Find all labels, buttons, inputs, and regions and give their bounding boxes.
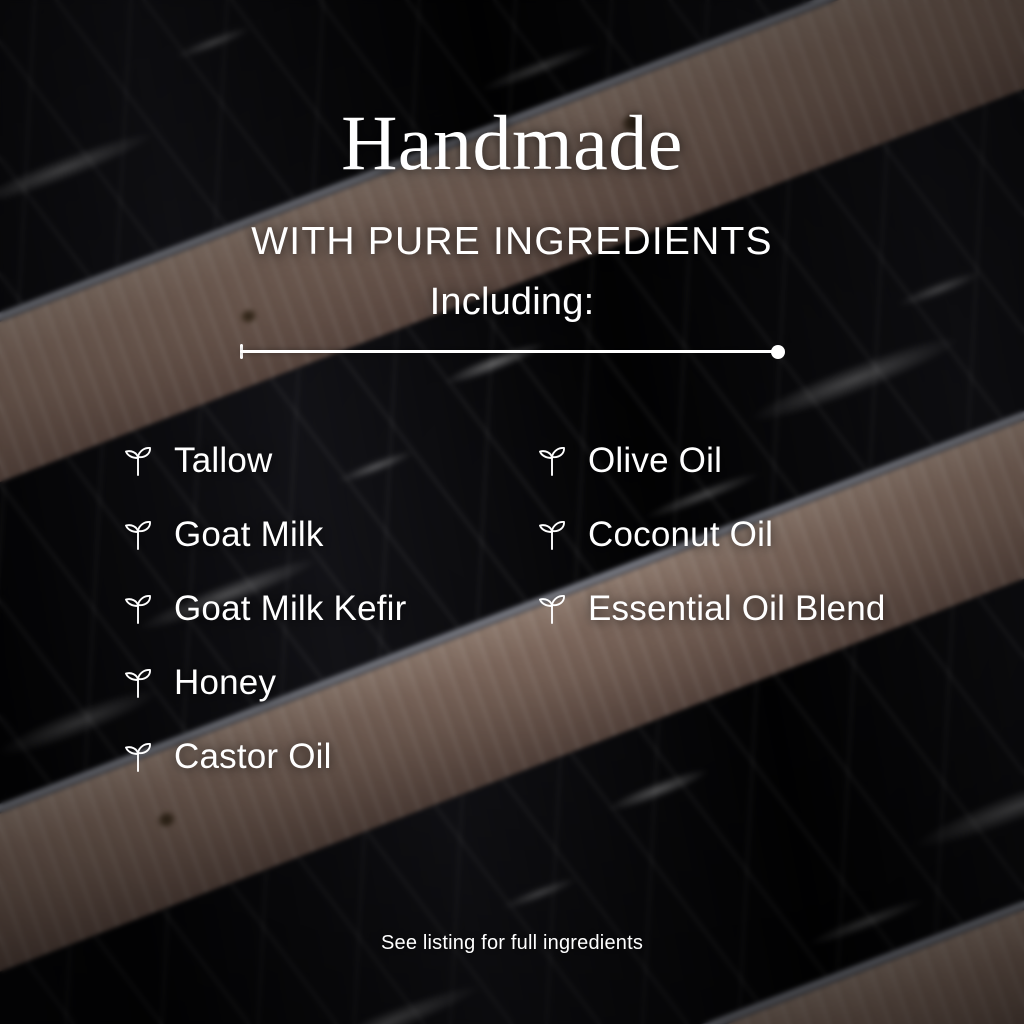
ingredient-label: Tallow: [174, 441, 272, 481]
footer-note: See listing for full ingredients: [0, 932, 1024, 955]
list-item: Goat Milk: [118, 498, 407, 572]
promo-graphic: Handmade WITH PURE INGREDIENTS Including…: [0, 0, 1024, 1024]
list-item: Castor Oil: [118, 720, 407, 794]
divider-line: [240, 350, 782, 353]
ingredients-columns: Tallow Goat Milk: [0, 424, 1024, 804]
ingredient-label: Olive Oil: [588, 441, 722, 481]
including-label: Including:: [0, 283, 1024, 323]
list-item: Essential Oil Blend: [532, 572, 886, 646]
sprout-icon: [532, 515, 572, 555]
divider: [240, 342, 782, 360]
ingredients-left-column: Tallow Goat Milk: [118, 424, 407, 794]
ingredient-label: Coconut Oil: [588, 515, 773, 555]
dot-icon: [771, 345, 785, 359]
sprout-icon: [532, 589, 572, 629]
sprout-icon: [118, 589, 158, 629]
ingredient-label: Essential Oil Blend: [588, 589, 886, 629]
sprout-icon: [118, 737, 158, 777]
sprout-icon: [118, 515, 158, 555]
sprout-icon: [118, 663, 158, 703]
list-item: Coconut Oil: [532, 498, 886, 572]
list-item: Olive Oil: [532, 424, 886, 498]
sprout-icon: [118, 441, 158, 481]
ingredient-label: Goat Milk: [174, 515, 324, 555]
list-item: Honey: [118, 646, 407, 720]
overlay-content: Handmade WITH PURE INGREDIENTS Including…: [0, 0, 1024, 1024]
ingredients-right-column: Olive Oil Coconut Oil: [532, 424, 886, 646]
ingredient-label: Castor Oil: [174, 737, 332, 777]
page-subtitle: WITH PURE INGREDIENTS: [0, 222, 1024, 263]
ingredient-label: Goat Milk Kefir: [174, 589, 407, 629]
page-title: Handmade: [0, 104, 1024, 182]
list-item: Tallow: [118, 424, 407, 498]
ingredient-label: Honey: [174, 663, 276, 703]
sprout-icon: [532, 441, 572, 481]
list-item: Goat Milk Kefir: [118, 572, 407, 646]
